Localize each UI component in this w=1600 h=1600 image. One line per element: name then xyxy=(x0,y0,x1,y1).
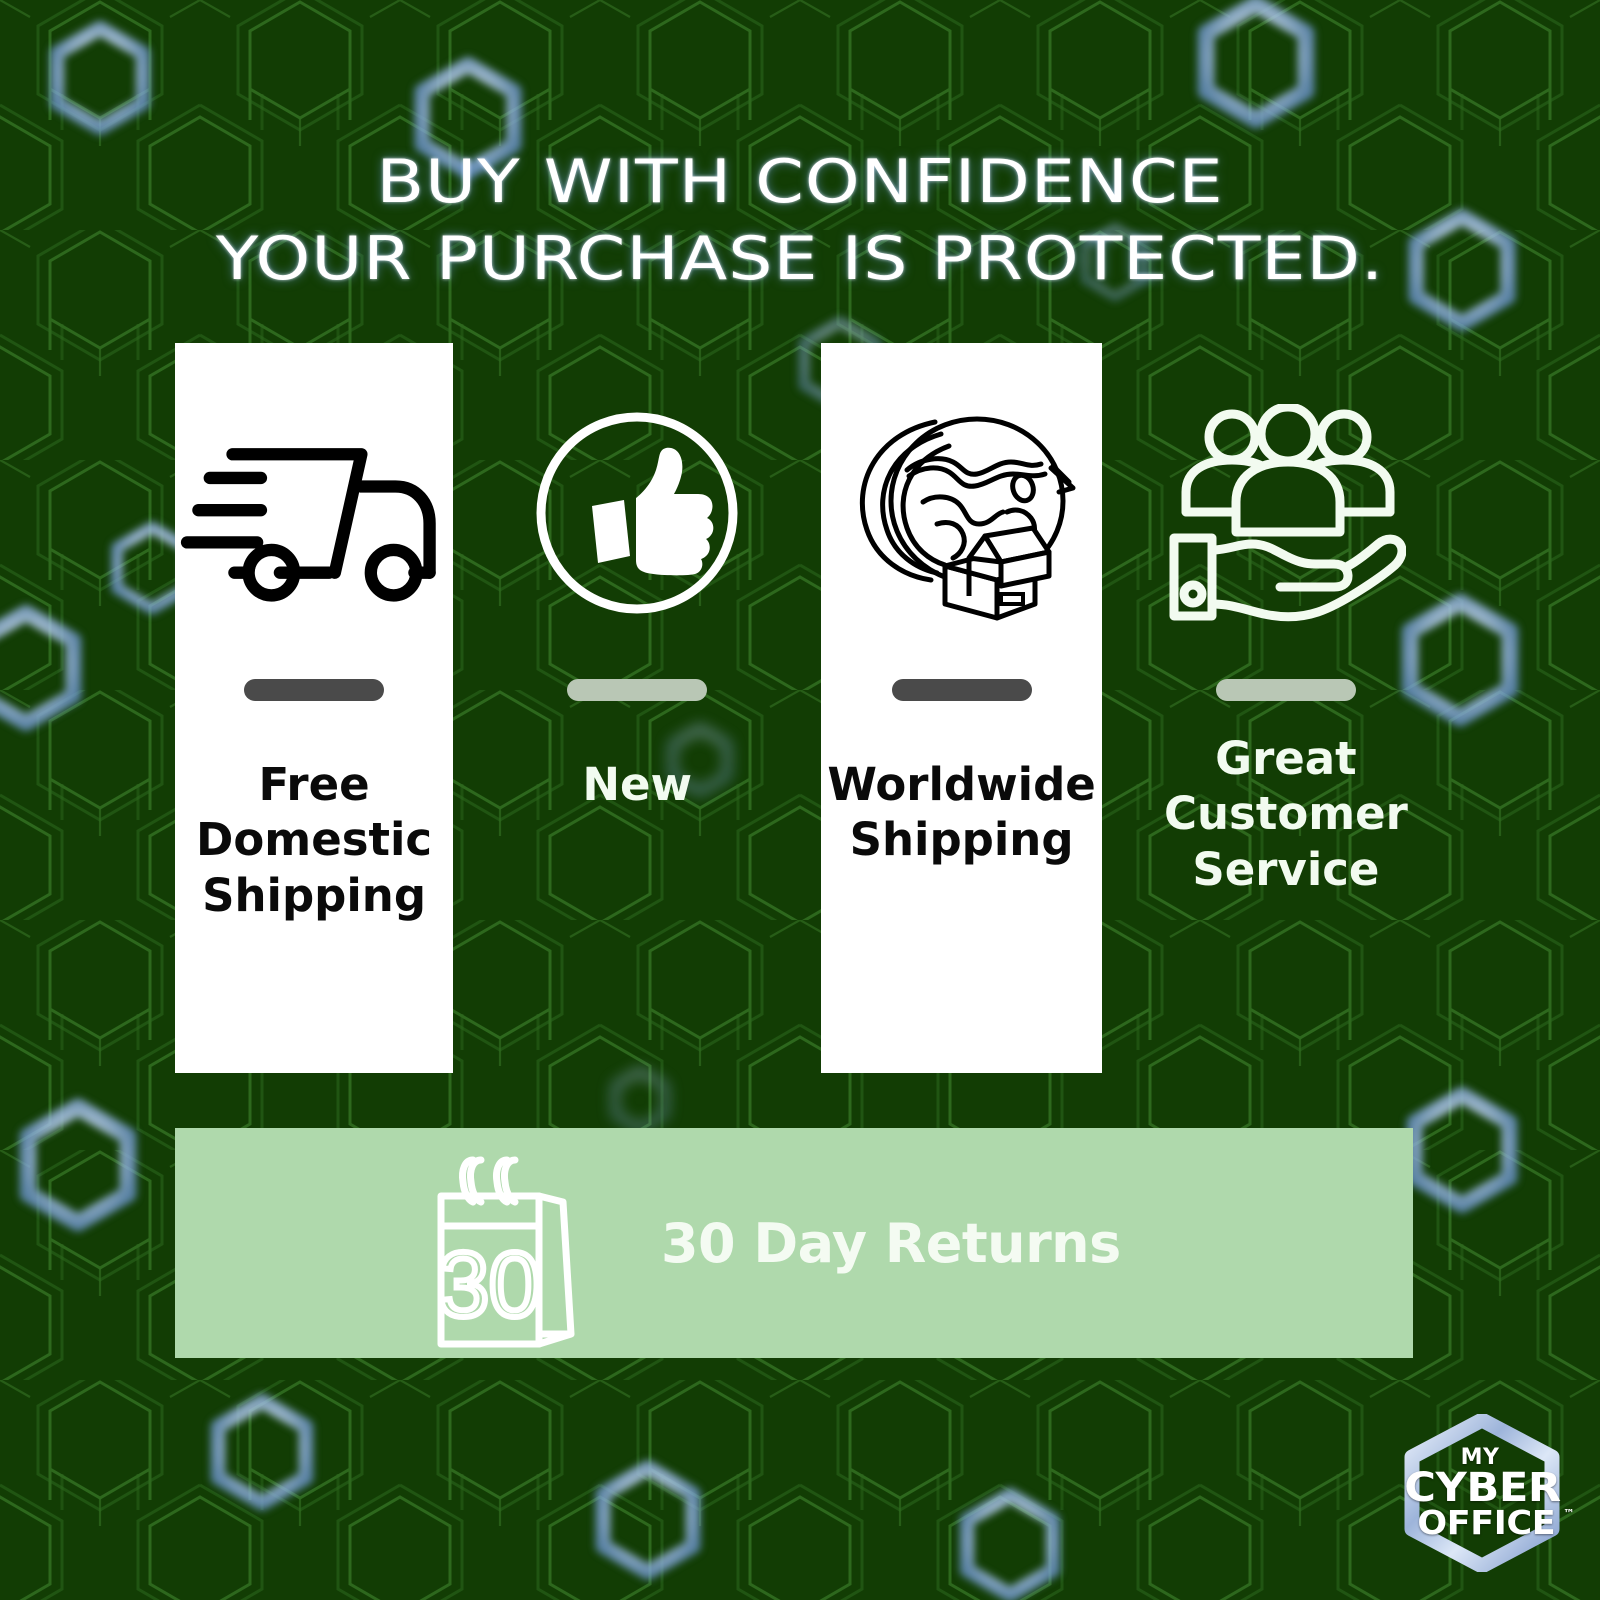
feature-label: Great Customer Service xyxy=(1158,731,1414,897)
headline-line-2: YOUR PURCHASE IS PROTECTED. xyxy=(0,227,1600,292)
returns-banner: 30 30 Day Returns xyxy=(175,1128,1413,1358)
thumbs-up-circle-icon xyxy=(498,343,776,673)
globe-parcel-icon xyxy=(821,343,1102,673)
page-headline: BUY WITH CONFIDENCE YOUR PURCHASE IS PRO… xyxy=(0,150,1600,292)
feature-list: Free Domestic Shipping New xyxy=(175,343,1425,1073)
feature-label: New xyxy=(576,757,698,812)
feature-divider xyxy=(892,679,1032,701)
feature-divider xyxy=(244,679,384,701)
headline-line-1: BUY WITH CONFIDENCE xyxy=(0,150,1600,215)
feature-card-free-domestic-shipping: Free Domestic Shipping xyxy=(175,343,453,1073)
feature-label: Free Domestic Shipping xyxy=(190,757,438,923)
logo-trademark: ™ xyxy=(1563,1509,1574,1519)
feature-label: Worldwide Shipping xyxy=(821,757,1102,868)
feature-divider xyxy=(567,679,707,701)
returns-label: 30 Day Returns xyxy=(661,1212,1121,1275)
delivery-truck-icon xyxy=(175,343,453,673)
people-in-hand-icon xyxy=(1147,343,1425,673)
logo-office-text: OFFICE xyxy=(1417,1503,1555,1542)
calendar-number: 30 xyxy=(438,1234,540,1336)
feature-card-new: New xyxy=(498,343,776,1073)
calendar-30-icon: 30 xyxy=(415,1148,605,1348)
feature-card-great-customer-service: Great Customer Service xyxy=(1147,343,1425,1073)
feature-card-worldwide-shipping: Worldwide Shipping xyxy=(821,343,1102,1073)
brand-logo[interactable]: MY CYBER OFFICE™ xyxy=(1392,1414,1572,1572)
feature-divider xyxy=(1216,679,1356,701)
logo-wordmark: MY CYBER OFFICE™ xyxy=(1392,1414,1572,1572)
logo-line-office: OFFICE™ xyxy=(1417,1507,1555,1538)
logo-line-cyber: CYBER xyxy=(1404,1469,1561,1507)
